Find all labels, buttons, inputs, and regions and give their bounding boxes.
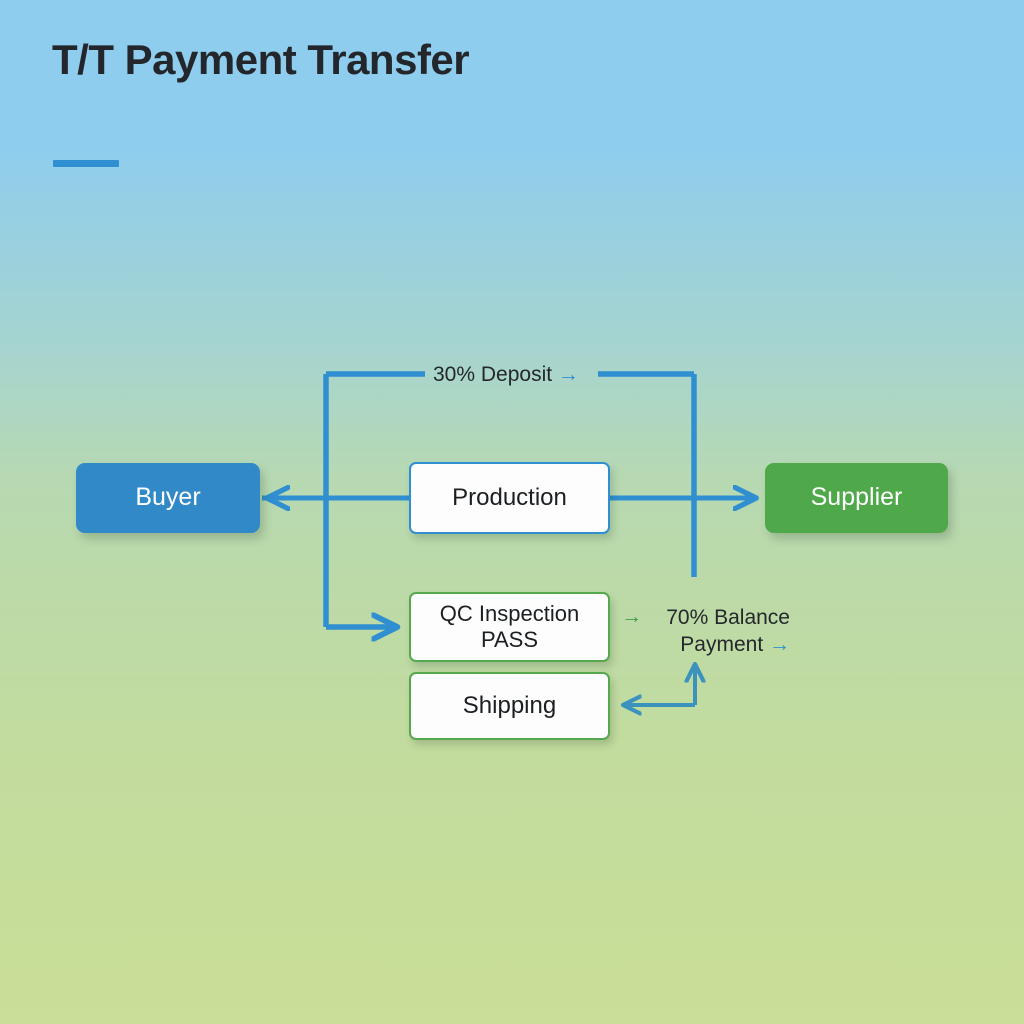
node-buyer-label: Buyer <box>135 483 200 513</box>
node-qc-text: QC Inspection PASS <box>440 601 579 653</box>
arrow-right-icon: → <box>769 633 790 656</box>
arrow-right-icon: → <box>558 363 579 386</box>
edge-label-balance-payment: 70% Balance Payment → <box>648 605 790 659</box>
node-production[interactable]: Production <box>409 462 610 534</box>
edge-label-deposit: 30% Deposit → <box>433 363 579 387</box>
edge-label-balance-line2: Payment <box>680 633 763 656</box>
node-qc-label-line2: PASS <box>481 627 538 652</box>
edge-label-deposit-text: 30% Deposit <box>433 363 552 386</box>
arrow-right-green-icon: → <box>621 605 642 629</box>
diagram-canvas: T/T Payment Transfer <box>0 0 1024 1024</box>
node-supplier[interactable]: Supplier <box>765 463 948 533</box>
node-shipping-label: Shipping <box>463 692 556 720</box>
edge-label-balance-line1: 70% Balance <box>666 606 790 629</box>
node-production-label: Production <box>452 484 567 512</box>
node-qc-label-line1: QC Inspection <box>440 601 579 626</box>
node-shipping[interactable]: Shipping <box>409 672 610 740</box>
node-qc-inspection[interactable]: QC Inspection PASS <box>409 592 610 662</box>
node-buyer[interactable]: Buyer <box>76 463 260 533</box>
node-supplier-label: Supplier <box>811 483 903 513</box>
